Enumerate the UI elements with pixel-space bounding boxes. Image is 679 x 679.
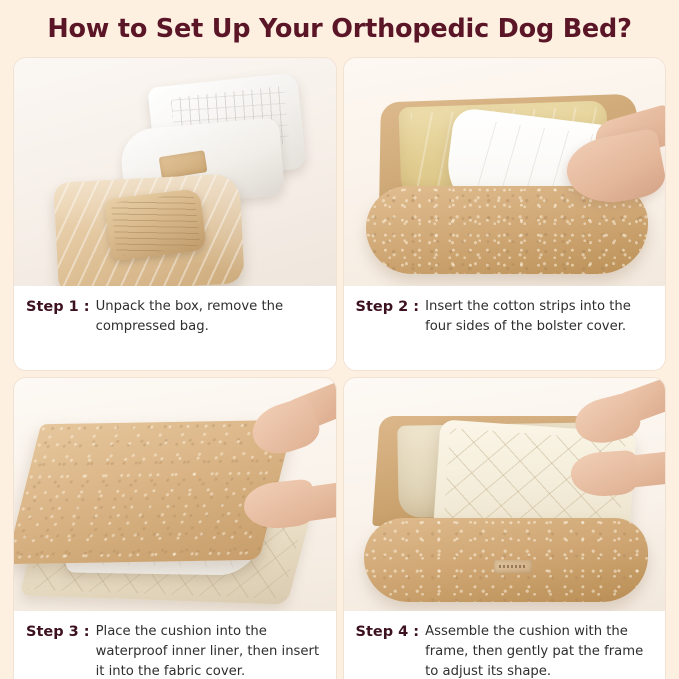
- steps-grid: Step 1 : Unpack the box, remove the comp…: [0, 58, 679, 679]
- step-3-photo: [14, 378, 336, 611]
- brand-tag: [494, 560, 532, 573]
- step-2-caption: Step 2 : Insert the cotton strips into t…: [344, 286, 666, 370]
- page-title: How to Set Up Your Orthopedic Dog Bed?: [47, 14, 631, 44]
- step-1-caption: Step 1 : Unpack the box, remove the comp…: [14, 286, 336, 370]
- infographic-page: How to Set Up Your Orthopedic Dog Bed? S…: [0, 0, 679, 679]
- step-1-label: Step 1 :: [26, 297, 96, 317]
- step-2-text: Insert the cotton strips into the four s…: [425, 297, 655, 337]
- step-4-text: Assemble the cushion with the frame, the…: [425, 622, 655, 679]
- step-2-photo: [344, 58, 666, 286]
- step-card-2: Step 2 : Insert the cotton strips into t…: [344, 58, 666, 370]
- step-card-4: Step 4 : Assemble the cushion with the f…: [344, 378, 666, 679]
- step-1-photo: [14, 58, 336, 286]
- step-2-label: Step 2 :: [356, 297, 426, 317]
- step-card-1: Step 1 : Unpack the box, remove the comp…: [14, 58, 336, 370]
- step-1-text: Unpack the box, remove the compressed ba…: [96, 297, 326, 337]
- step-4-caption: Step 4 : Assemble the cushion with the f…: [344, 611, 666, 679]
- step-3-text: Place the cushion into the waterproof in…: [96, 622, 326, 679]
- step-4-photo: [344, 378, 666, 611]
- step-3-label: Step 3 :: [26, 622, 96, 642]
- title-bar: How to Set Up Your Orthopedic Dog Bed?: [0, 0, 679, 58]
- step-3-caption: Step 3 : Place the cushion into the wate…: [14, 611, 336, 679]
- rolled-bolster-inside-bag: [104, 188, 207, 261]
- step-card-3: Step 3 : Place the cushion into the wate…: [14, 378, 336, 679]
- compressed-cover-bag: [53, 173, 245, 286]
- step-4-label: Step 4 :: [356, 622, 426, 642]
